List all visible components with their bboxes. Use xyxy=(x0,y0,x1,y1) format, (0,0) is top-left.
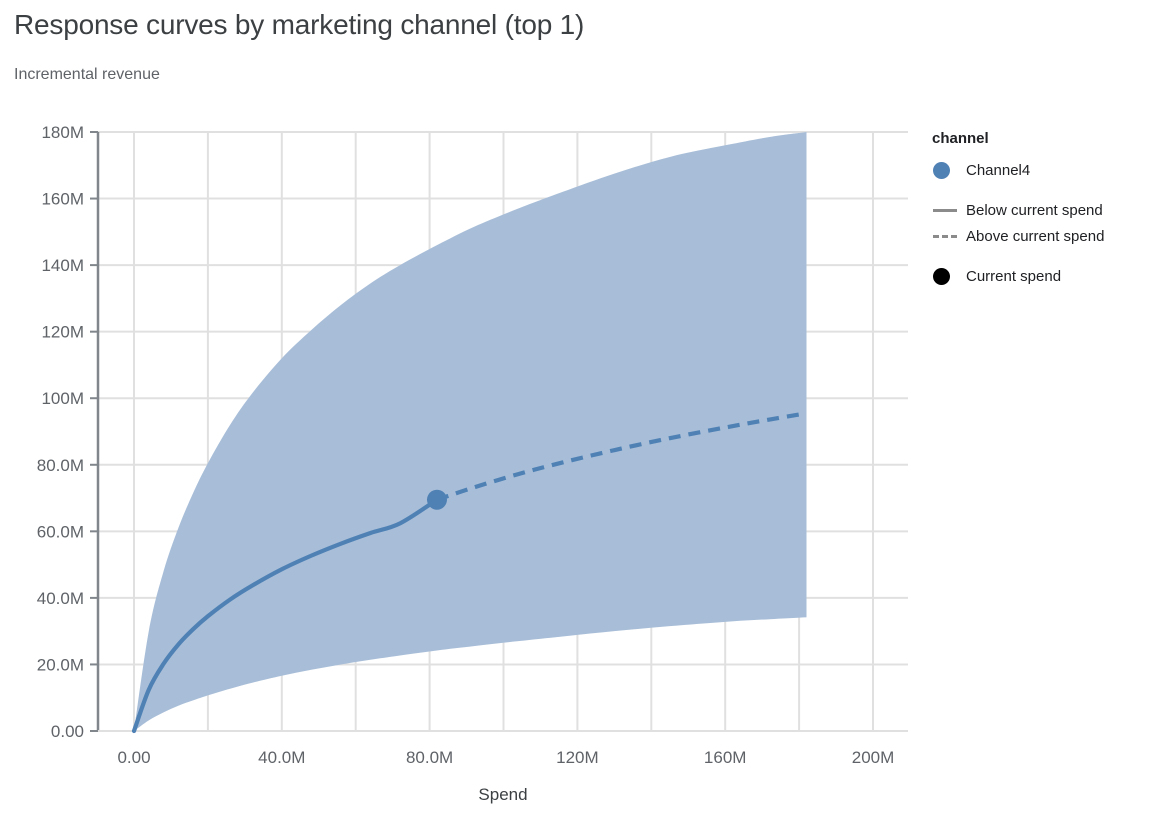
confidence-band xyxy=(134,132,806,731)
filled-circle-icon xyxy=(933,268,950,285)
legend-item-below-current-spend[interactable]: Below current spend xyxy=(932,197,1162,223)
y-tick-label: 160M xyxy=(41,190,84,209)
legend-label-above: Above current spend xyxy=(966,228,1104,245)
y-tick-label: 20.0M xyxy=(37,655,84,674)
current-spend-marker[interactable] xyxy=(427,490,447,510)
legend-title: channel xyxy=(932,130,1162,147)
x-tick-label: 80.0M xyxy=(406,748,453,767)
legend-swatch-current-spend xyxy=(932,268,966,285)
legend-item-current-spend[interactable]: Current spend xyxy=(932,263,1162,289)
circle-icon xyxy=(933,162,950,179)
legend-item-above-current-spend[interactable]: Above current spend xyxy=(932,223,1162,249)
legend-label-channel4: Channel4 xyxy=(966,162,1030,179)
x-tick-label: 200M xyxy=(852,748,895,767)
y-tick-label: 0.00 xyxy=(51,722,84,741)
dashed-line-icon xyxy=(933,235,957,238)
x-tick-label: 120M xyxy=(556,748,599,767)
x-tick-label: 40.0M xyxy=(258,748,305,767)
x-tick-label: 0.00 xyxy=(117,748,150,767)
legend-label-below: Below current spend xyxy=(966,202,1103,219)
legend-label-current-spend: Current spend xyxy=(966,268,1061,285)
legend-item-channel4[interactable]: Channel4 xyxy=(932,157,1162,183)
y-tick-label: 60.0M xyxy=(37,522,84,541)
x-axis-title: Spend xyxy=(478,785,527,804)
y-tick-label: 140M xyxy=(41,256,84,275)
legend-swatch-above xyxy=(932,235,966,238)
y-tick-label: 80.0M xyxy=(37,456,84,475)
legend-swatch-below xyxy=(932,209,966,212)
response-curve-chart: 0.0020.0M40.0M60.0M80.0M100M120M140M160M… xyxy=(0,0,1164,814)
current-spend-point[interactable] xyxy=(427,490,447,510)
confidence-band-area xyxy=(134,132,806,731)
x-tick-label: 160M xyxy=(704,748,747,767)
legend: channel Channel4 Below current spend Abo… xyxy=(932,130,1162,289)
y-tick-label: 180M xyxy=(41,123,84,142)
y-tick-label: 40.0M xyxy=(37,589,84,608)
legend-swatch-channel4 xyxy=(932,162,966,179)
chart-page: Response curves by marketing channel (to… xyxy=(0,0,1164,814)
y-tick-label: 120M xyxy=(41,323,84,342)
solid-line-icon xyxy=(933,209,957,212)
y-tick-label: 100M xyxy=(41,389,84,408)
